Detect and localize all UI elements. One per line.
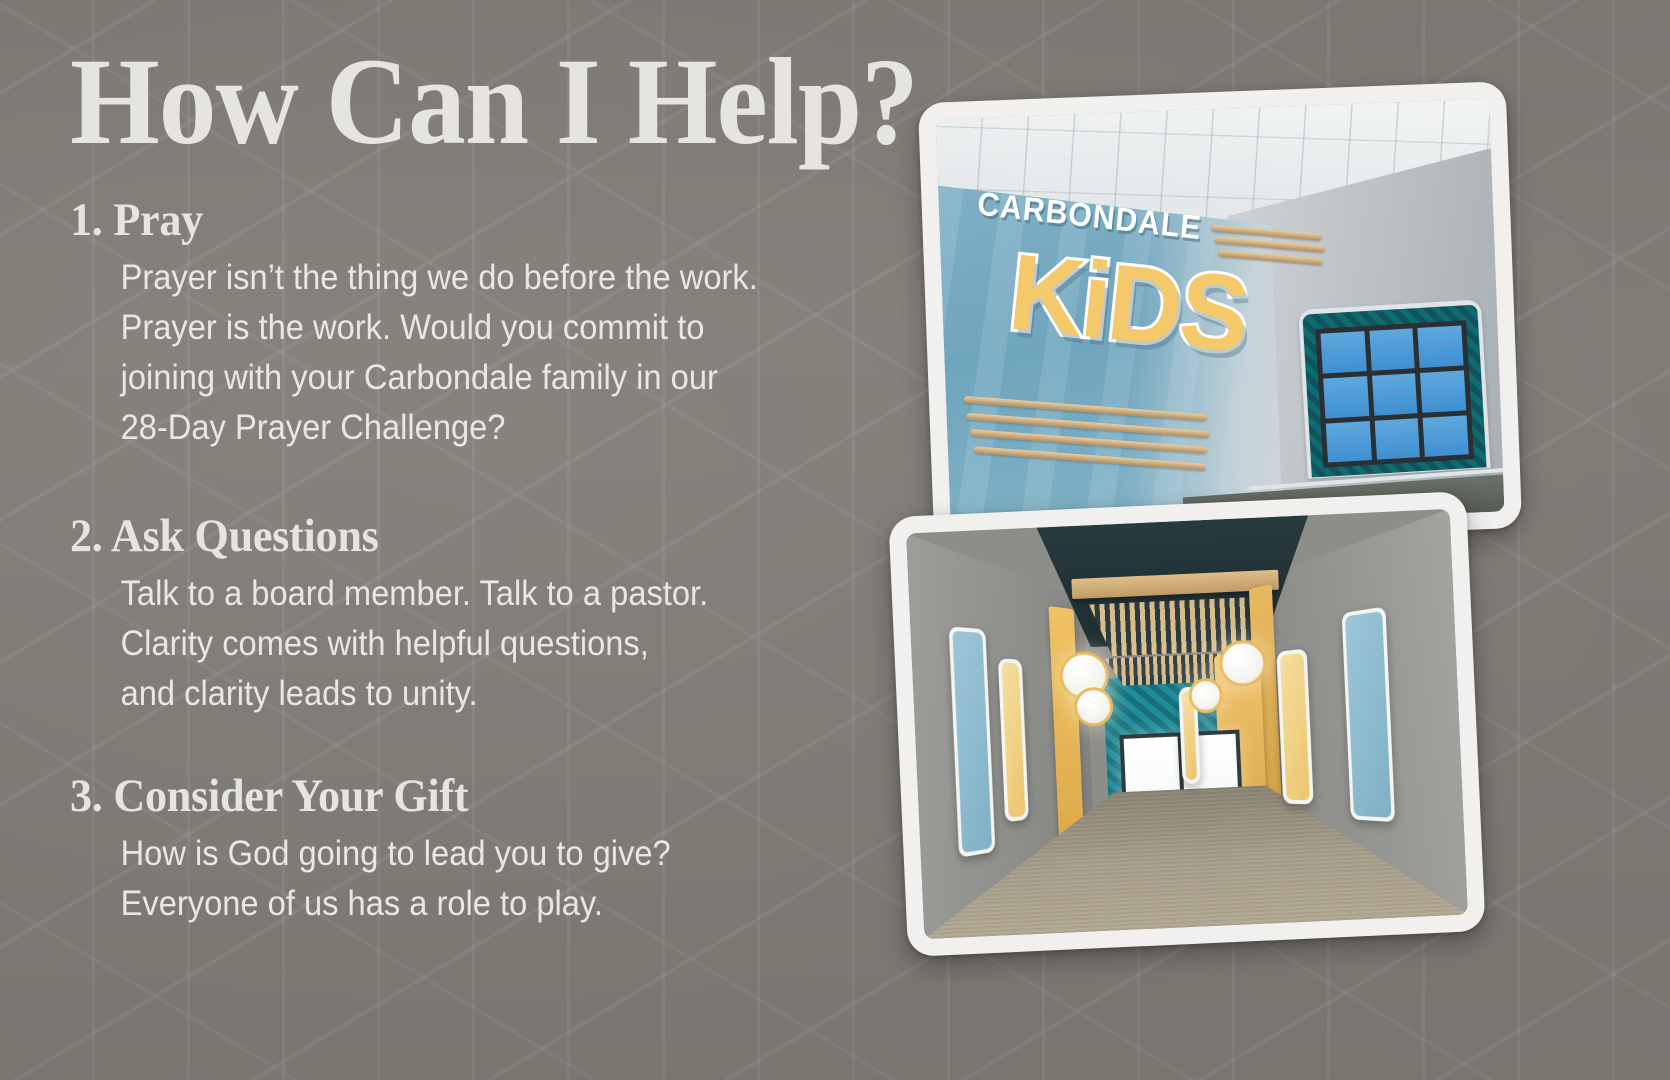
section-heading: 1. Pray: [70, 196, 897, 246]
photo-image-corridor: [906, 509, 1468, 939]
page-title: How Can I Help?: [70, 40, 918, 164]
slide-canvas: How Can I Help? 1. Pray Prayer isn’t the…: [0, 0, 1670, 1080]
section-pray: 1. Pray Prayer isn’t the thing we do bef…: [70, 196, 950, 452]
body-line: Prayer isn’t the thing we do before the …: [121, 252, 880, 302]
photo-childrens-corridor: [888, 491, 1485, 957]
body-line: joining with your Carbondale family in o…: [121, 352, 880, 402]
section-consider-your-gift: 3. Consider Your Gift How is God going t…: [70, 772, 950, 928]
content-column: How Can I Help? 1. Pray Prayer isn’t the…: [62, 0, 942, 1080]
photo-carbondale-kids: CARBONDALE KiDS: [918, 81, 1522, 550]
section-heading: 2. Ask Questions: [70, 512, 897, 562]
section-ask-questions: 2. Ask Questions Talk to a board member.…: [70, 512, 950, 718]
window-trim-striped: [1303, 305, 1487, 477]
section-body: Prayer isn’t the thing we do before the …: [70, 252, 880, 452]
body-line: How is God going to lead you to give?: [121, 828, 880, 878]
window-glass-grid: [1316, 320, 1474, 468]
window-frame: [1298, 300, 1490, 480]
photo-image-kids: CARBONDALE KiDS: [935, 99, 1504, 532]
body-line: and clarity leads to unity.: [121, 668, 880, 718]
body-line: Everyone of us has a role to play.: [121, 878, 880, 928]
body-line: Clarity comes with helpful questions,: [121, 618, 880, 668]
body-line: Talk to a board member. Talk to a pastor…: [121, 568, 880, 618]
body-line: 28-Day Prayer Challenge?: [121, 402, 880, 452]
sign-text-kids: KiDS: [1004, 229, 1253, 378]
section-body: Talk to a board member. Talk to a pastor…: [70, 568, 880, 718]
body-line: Prayer is the work. Would you commit to: [121, 302, 880, 352]
section-body: How is God going to lead you to give? Ev…: [70, 828, 880, 928]
section-heading: 3. Consider Your Gift: [70, 772, 897, 822]
